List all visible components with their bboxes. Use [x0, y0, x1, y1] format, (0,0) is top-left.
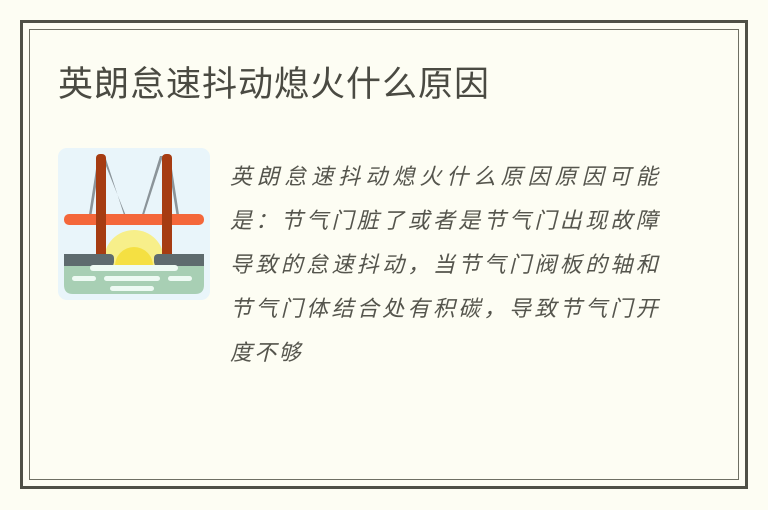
article-body: 英朗怠速抖动熄火什么原因原因可能是：节气门脏了或者是节气门出现故障导致的怠速抖动…	[230, 156, 660, 376]
article-content: 英朗怠速抖动熄火什么原因原因可能是：节气门脏了或者是节气门出现故障导致的怠速抖动…	[58, 148, 678, 398]
bridge-sunset-icon	[58, 148, 210, 300]
page-title: 英朗怠速抖动熄火什么原因	[58, 62, 490, 108]
page-root: 英朗怠速抖动熄火什么原因	[0, 0, 768, 510]
bridge-sunset-illustration-svg	[58, 148, 210, 300]
